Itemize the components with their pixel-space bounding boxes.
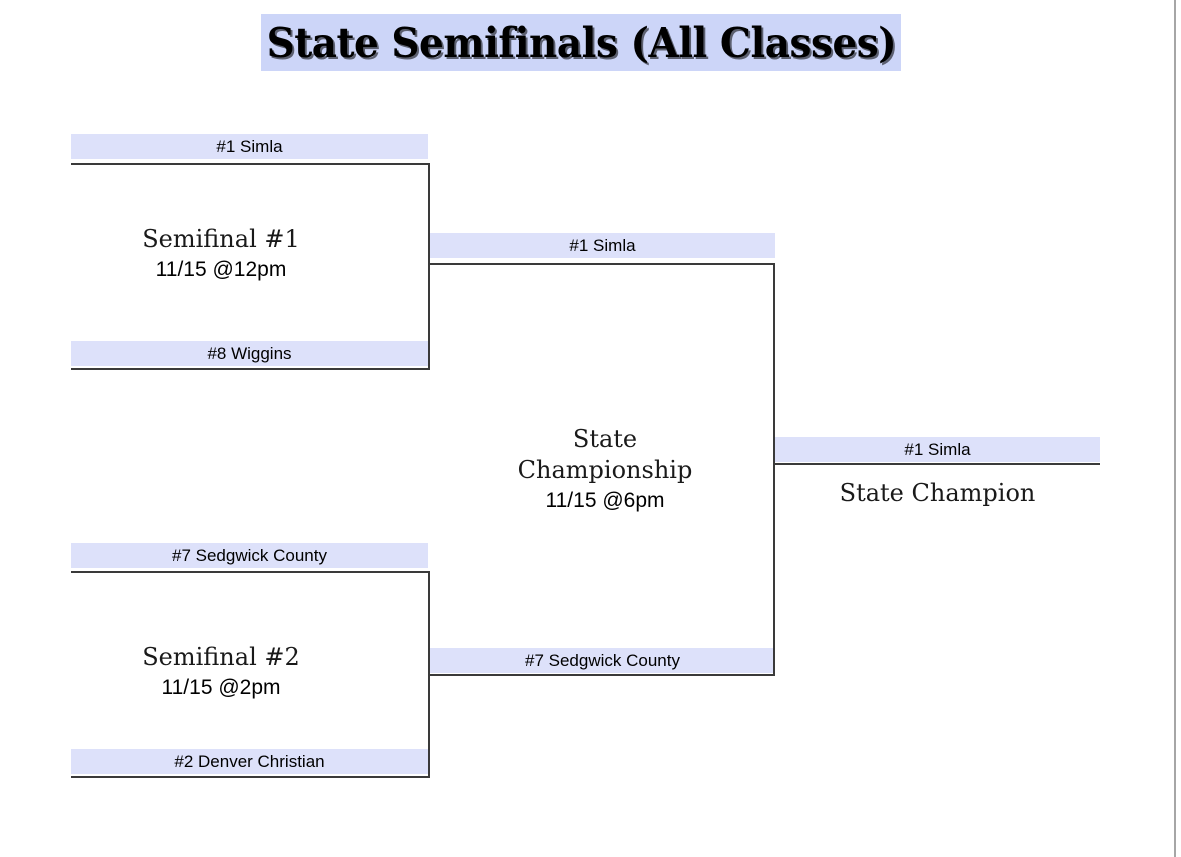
semifinal-1-bottom-team-slot[interactable]: #8 Wiggins <box>71 341 428 366</box>
semifinal-2-top-rail <box>71 571 430 573</box>
championship-connector <box>773 263 775 676</box>
state-champion-team-label: #1 Simla <box>904 441 970 458</box>
semifinal-2-bottom-rail <box>71 776 430 778</box>
slide-edge-border <box>1174 0 1176 857</box>
championship-name: State Championship <box>455 424 755 486</box>
semifinal-2-name: Semifinal #2 <box>71 642 371 673</box>
semifinal-1-info: Semifinal #1 11/15 @12pm <box>71 224 371 283</box>
semifinal-1-top-team-slot[interactable]: #1 Simla <box>71 134 428 159</box>
semifinal-1-top-team-label: #1 Simla <box>216 138 282 155</box>
championship-bottom-rail <box>430 674 775 676</box>
championship-bottom-team-label: #7 Sedgwick County <box>525 652 680 669</box>
state-champion-rail <box>775 463 1100 465</box>
championship-bottom-team-slot[interactable]: #7 Sedgwick County <box>430 648 775 673</box>
semifinal-1-datetime: 11/15 @12pm <box>71 257 371 283</box>
semifinal-2-datetime: 11/15 @2pm <box>71 675 371 701</box>
page-title-banner: State Semifinals (All Classes) <box>261 14 901 71</box>
semifinal-2-top-team-slot[interactable]: #7 Sedgwick County <box>71 543 428 568</box>
semifinal-2-bottom-team-label: #2 Denver Christian <box>174 753 324 770</box>
semifinal-1-top-rail <box>71 163 430 165</box>
championship-top-rail <box>430 263 775 265</box>
semifinal-1-bottom-rail <box>71 368 430 370</box>
championship-top-team-slot[interactable]: #1 Simla <box>430 233 775 258</box>
championship-datetime: 11/15 @6pm <box>455 488 755 514</box>
semifinal-2-info: Semifinal #2 11/15 @2pm <box>71 642 371 701</box>
state-champion-info: State Champion <box>775 478 1100 509</box>
state-champion-caption: State Champion <box>775 478 1100 509</box>
semifinal-1-name: Semifinal #1 <box>71 224 371 255</box>
semifinal-2-top-team-label: #7 Sedgwick County <box>172 547 327 564</box>
championship-info: State Championship 11/15 @6pm <box>455 424 755 515</box>
state-champion-slot[interactable]: #1 Simla <box>775 437 1100 462</box>
page-title: State Semifinals (All Classes) <box>266 19 896 67</box>
semifinal-1-connector <box>428 163 430 370</box>
championship-top-team-label: #1 Simla <box>569 237 635 254</box>
semifinal-2-bottom-team-slot[interactable]: #2 Denver Christian <box>71 749 428 774</box>
semifinal-1-bottom-team-label: #8 Wiggins <box>207 345 291 362</box>
